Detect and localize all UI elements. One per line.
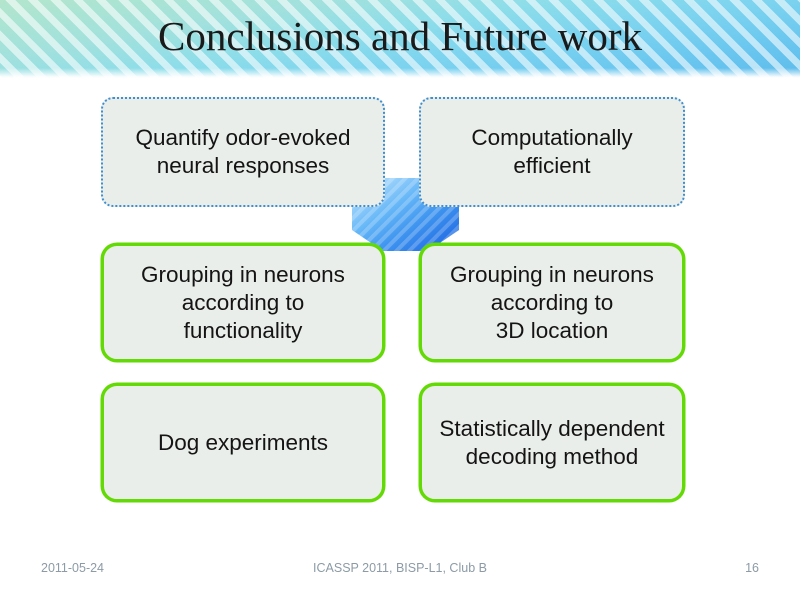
node-label: Quantify odor-evoked neural responses xyxy=(135,124,350,180)
node-grouping-functionality[interactable]: Grouping in neurons according to functio… xyxy=(101,243,385,362)
node-label: Dog experiments xyxy=(158,429,328,457)
presentation-slide: Conclusions and Future work xyxy=(0,0,800,598)
footer-page-number: 16 xyxy=(745,558,759,578)
node-label: Computationally efficient xyxy=(471,124,632,180)
node-label: Grouping in neurons according to functio… xyxy=(141,261,345,345)
node-dog-experiments[interactable]: Dog experiments xyxy=(101,383,385,502)
slide-footer: 2011-05-24 ICASSP 2011, BISP-L1, Club B … xyxy=(0,558,800,586)
node-decoding-method[interactable]: Statistically dependent decoding method xyxy=(419,383,685,502)
footer-conference-info: ICASSP 2011, BISP-L1, Club B xyxy=(0,558,800,578)
node-computationally-efficient[interactable]: Computationally efficient xyxy=(419,97,685,207)
banner-bottom-fade xyxy=(0,68,800,78)
conclusions-diagram: Quantify odor-evoked neural responses Co… xyxy=(0,78,800,540)
node-label: Grouping in neurons according to 3D loca… xyxy=(450,261,654,345)
node-quantify-odor-evoked[interactable]: Quantify odor-evoked neural responses xyxy=(101,97,385,207)
node-label: Statistically dependent decoding method xyxy=(439,415,664,471)
node-grouping-3d-location[interactable]: Grouping in neurons according to 3D loca… xyxy=(419,243,685,362)
page-title: Conclusions and Future work xyxy=(0,8,800,64)
